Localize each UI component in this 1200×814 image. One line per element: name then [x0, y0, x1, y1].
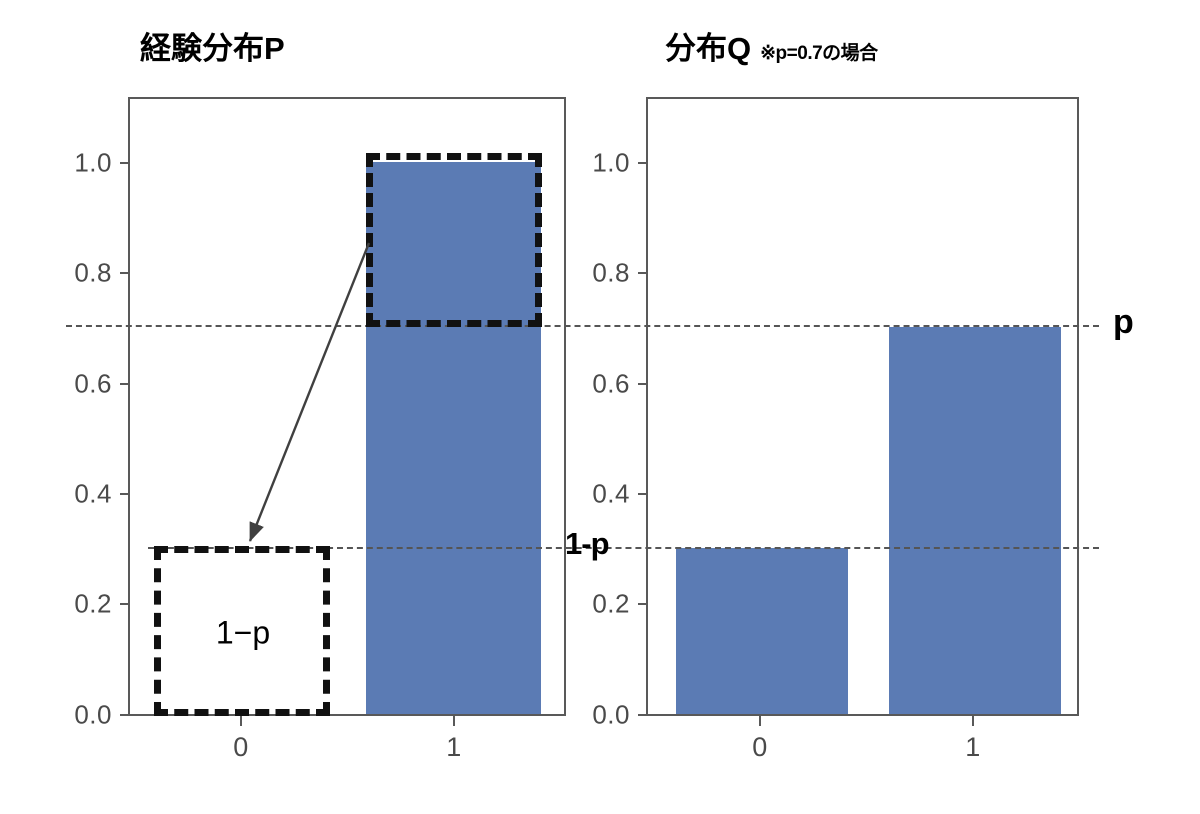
ytick-label-right-5: 1.0 [580, 148, 630, 179]
ytick-label-left-3: 0.6 [62, 369, 112, 400]
ytick-right-0.0 [638, 714, 647, 716]
bar-right-0 [676, 548, 848, 714]
plot-right-inner [648, 99, 1077, 714]
ytick-label-left-0: 0.0 [62, 700, 112, 731]
ytick-label-right-4: 0.8 [580, 258, 630, 289]
ytick-left-0.8 [120, 272, 129, 274]
ytick-label-left-5: 1.0 [62, 148, 112, 179]
xtick-label-right-1: 1 [965, 732, 981, 763]
annotation-box-p-top [366, 153, 542, 327]
label-one-minus-p: 1-p [565, 528, 609, 559]
panel-right-title: 分布Q※p=0.7の場合 [665, 33, 878, 64]
xtick-right-0 [759, 716, 761, 726]
panel-left-title: 経験分布P [140, 33, 285, 64]
ytick-right-0.6 [638, 383, 647, 385]
ytick-label-right-0: 0.0 [580, 700, 630, 731]
ytick-left-0.0 [120, 714, 129, 716]
guide-line-p [66, 325, 1099, 327]
ytick-right-1.0 [638, 162, 647, 164]
ytick-label-left-1: 0.2 [62, 589, 112, 620]
ytick-label-right-3: 0.6 [580, 369, 630, 400]
xtick-left-1 [453, 716, 455, 726]
ytick-label-left-4: 0.8 [62, 258, 112, 289]
ytick-left-0.6 [120, 383, 129, 385]
xtick-right-1 [972, 716, 974, 726]
xtick-label-left-0: 0 [233, 732, 249, 763]
figure-canvas: 経験分布P 分布Q※p=0.7の場合 0.0 0.2 0.4 0.6 0.8 1… [0, 0, 1200, 814]
xtick-label-left-1: 1 [446, 732, 462, 763]
ytick-left-1.0 [120, 162, 129, 164]
ytick-label-right-1: 0.2 [580, 589, 630, 620]
bar-right-1 [889, 327, 1061, 714]
annotation-box-one-minus-p-label: 1−p [216, 615, 270, 652]
panel-left-title-text: 経験分布P [140, 31, 285, 66]
xtick-left-0 [240, 716, 242, 726]
panel-right-title-text: 分布Q [665, 31, 751, 66]
ytick-label-left-2: 0.4 [62, 479, 112, 510]
chart-panel-right [646, 97, 1079, 716]
ytick-left-0.2 [120, 603, 129, 605]
ytick-right-0.4 [638, 493, 647, 495]
ytick-right-0.8 [638, 272, 647, 274]
label-p: p [1113, 305, 1134, 339]
ytick-left-0.4 [120, 493, 129, 495]
panel-right-title-note: ※p=0.7の場合 [760, 43, 878, 64]
ytick-right-0.2 [638, 603, 647, 605]
xtick-label-right-0: 0 [752, 732, 768, 763]
ytick-label-right-2: 0.4 [580, 479, 630, 510]
